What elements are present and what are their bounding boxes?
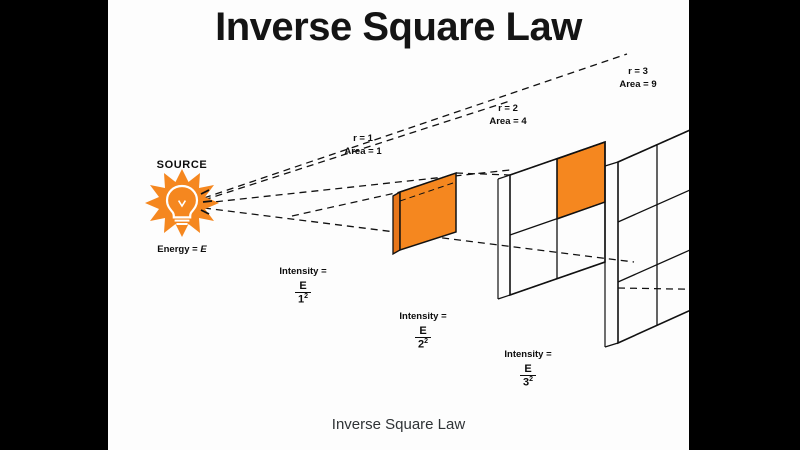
panel-group-1[interactable] bbox=[393, 173, 456, 254]
panel-group-3[interactable] bbox=[605, 110, 689, 347]
panel-2-cell-highlight[interactable] bbox=[557, 142, 605, 219]
panel-2-intensity-fraction: E 22 bbox=[368, 325, 478, 353]
panel-3-frame bbox=[618, 110, 689, 343]
panel-2-intensity-label: Intensity = bbox=[368, 311, 478, 324]
panel-1-intensity-label: Intensity = bbox=[248, 266, 358, 279]
panel-3-area-label: Area = 9 bbox=[583, 79, 689, 92]
starburst-icon bbox=[145, 169, 219, 237]
letterbox-left bbox=[0, 0, 108, 450]
panel-group-2[interactable] bbox=[498, 142, 605, 299]
panel-3-r-label: r = 3 bbox=[583, 66, 689, 79]
panel-3-gridline-h-1 bbox=[618, 170, 689, 222]
panel-1-r-label: r = 1 bbox=[308, 133, 418, 146]
source-energy-value: E bbox=[200, 244, 206, 255]
panel-2-depth-bottom-left bbox=[498, 295, 510, 299]
source-group[interactable] bbox=[145, 169, 219, 237]
panel-3-intensity-label: Intensity = bbox=[473, 349, 583, 362]
panel-2-area-label: Area = 4 bbox=[453, 116, 563, 129]
slide-canvas: Inverse Square Law bbox=[108, 0, 689, 450]
panel-3-intensity-numerator: E bbox=[520, 363, 536, 375]
panel-2-intensity-numerator: E bbox=[415, 325, 431, 337]
panel-3-depth-top-left bbox=[605, 162, 618, 166]
panel-3-intensity-denominator: 32 bbox=[520, 375, 536, 389]
panel-1-intensity-fraction: E 12 bbox=[248, 280, 358, 308]
panel-1-area-label: Area = 1 bbox=[308, 146, 418, 159]
panel-2-depth-edges bbox=[498, 175, 510, 299]
hidden-edge-p1-p2-top bbox=[292, 192, 400, 216]
ray-bottom-left bbox=[204, 170, 510, 203]
source-label: SOURCE bbox=[108, 158, 256, 173]
panel-3-depth-edges bbox=[605, 162, 618, 347]
panel-3-intensity-fraction: E 32 bbox=[473, 363, 583, 391]
panel-1-side-face bbox=[393, 192, 400, 254]
panel-3-gridline-h-2 bbox=[618, 230, 689, 282]
slide-caption: Inverse Square Law bbox=[108, 416, 689, 433]
letterbox-right bbox=[689, 0, 800, 450]
source-energy-prefix: Energy = bbox=[157, 244, 200, 255]
video-frame: Inverse Square Law bbox=[0, 0, 800, 450]
panel-3-depth-bottom-left bbox=[605, 343, 618, 347]
panel-2-r-label: r = 2 bbox=[453, 103, 563, 116]
panel-1-intensity-denominator: 12 bbox=[295, 292, 311, 306]
panel-2-intensity-denominator: 22 bbox=[415, 337, 431, 351]
panel-2-depth-top-left bbox=[498, 175, 510, 179]
source-energy-label: Energy = E bbox=[108, 244, 256, 257]
hidden-edge-p3-bottom-back bbox=[618, 288, 689, 290]
panel-1-intensity-numerator: E bbox=[295, 280, 311, 292]
